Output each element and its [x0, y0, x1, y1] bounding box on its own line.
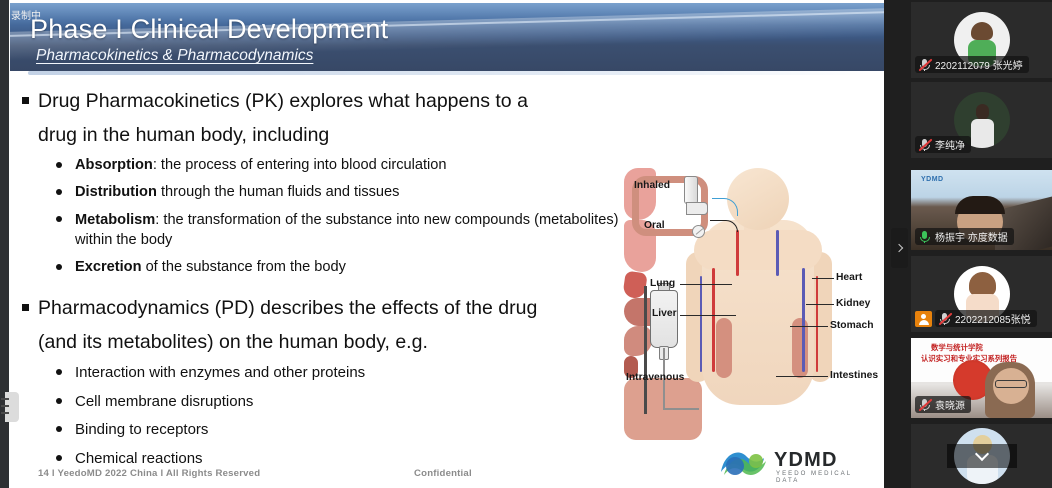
slide-body: Drug Pharmacokinetics (PK) explores what… — [0, 80, 640, 477]
leader-stomach — [790, 326, 828, 327]
left-panel-drag-handle[interactable] — [5, 392, 19, 422]
participant-name: 袁晓源 — [935, 397, 965, 412]
zoom-meeting-window: Phase I Clinical Development Pharmacokin… — [0, 0, 1052, 488]
ydmd-wordmark: YDMD — [774, 449, 838, 472]
dot-bullet-icon — [56, 264, 62, 270]
pill-icon — [692, 225, 705, 238]
shared-screen-slide[interactable]: Phase I Clinical Development Pharmacokin… — [0, 0, 884, 488]
participant-tile[interactable]: 2202212085张悦 — [911, 256, 1052, 332]
participant-tile[interactable]: 数学与统计学院 认识实习和专业实习系列报告 袁晓源 — [911, 338, 1052, 418]
footer-confidential: Confidential — [414, 468, 472, 479]
participant-tile[interactable]: 李纯净 — [911, 82, 1052, 158]
list-item: Excretion of the substance from the body — [0, 258, 640, 278]
host-badge-icon — [915, 311, 932, 327]
pk-heading-line1: Drug Pharmacokinetics (PK) explores what… — [0, 84, 640, 118]
grip-line — [1, 398, 9, 400]
figure-head — [727, 168, 789, 230]
iv-pole — [644, 286, 647, 414]
microphone-muted-icon — [918, 58, 931, 72]
iv-bag — [650, 290, 678, 348]
ydmd-tagline: YEEDO MEDICAL DATA — [776, 470, 878, 484]
banner-underline — [28, 71, 868, 75]
pd-heading-line2: (and its metabolites) on the human body,… — [0, 325, 640, 359]
vein-line — [700, 276, 702, 372]
microphone-muted-icon — [918, 398, 931, 412]
drug-administration-diagram: Inhaled Oral Lung Liver Intravenous Hear… — [624, 168, 882, 423]
iv-tube-horizontal — [663, 408, 699, 410]
strip-collapse-button[interactable] — [891, 228, 908, 268]
label-liver: Liver — [652, 308, 677, 319]
vein-line — [776, 230, 779, 276]
label-oral: Oral — [644, 220, 665, 231]
microphone-muted-icon — [918, 138, 931, 152]
label-intravenous: Intravenous — [626, 372, 684, 383]
dot-bullet-icon — [56, 455, 62, 461]
recording-label: 录制中 — [11, 7, 41, 22]
ydmd-mark-icon — [718, 446, 770, 480]
dot-bullet-icon — [56, 369, 62, 375]
ydmd-watermark-icon: YDMD — [921, 176, 944, 183]
leader-kidney — [806, 304, 834, 305]
dot-bullet-icon — [56, 189, 62, 195]
list-item: Absorption: the process of entering into… — [0, 156, 640, 176]
participant-name: 2202212085张悦 — [955, 311, 1031, 326]
square-bullet-icon — [22, 97, 29, 104]
microphone-active-icon — [918, 230, 931, 244]
list-item: Cell membrane disruptions — [0, 392, 640, 412]
participant-tile[interactable]: 2202112079 张光婷 — [911, 2, 1052, 78]
pd-bullet-list: Interaction with enzymes and other prote… — [0, 363, 640, 468]
section-pd: Pharmacodynamics (PD) describes the effe… — [0, 291, 640, 468]
chevron-down-icon — [974, 447, 988, 461]
dot-bullet-icon — [56, 426, 62, 432]
pk-heading-line2: drug in the human body, including — [0, 118, 640, 152]
dot-bullet-icon — [56, 162, 62, 168]
pd-heading-line1: Pharmacodynamics (PD) describes the effe… — [0, 291, 640, 325]
participant-name: 李纯净 — [935, 137, 965, 152]
list-item: Distribution through the human fluids an… — [0, 183, 640, 203]
microphone-muted-icon — [938, 312, 951, 326]
dot-bullet-icon — [56, 398, 62, 404]
leader-lung — [680, 284, 732, 285]
participant-name: 2202112079 张光婷 — [935, 57, 1023, 72]
participant-tile-next[interactable] — [911, 424, 1052, 488]
leader-intestines — [776, 376, 828, 377]
participant-namebar: 2202212085张悦 — [935, 310, 1037, 327]
leader-heart — [812, 278, 834, 279]
ydmd-logo: YDMD YEEDO MEDICAL DATA — [718, 444, 878, 484]
list-item: Binding to receptors — [0, 420, 640, 440]
label-lung: Lung — [650, 278, 675, 289]
label-heart: Heart — [836, 272, 862, 283]
inhaler-mouthpiece-icon — [686, 202, 708, 215]
list-item: Interaction with enzymes and other prote… — [0, 363, 640, 383]
participant-namebar: 杨振宇 亦度数据 — [915, 228, 1014, 245]
page-subtitle: Pharmacokinetics & Pharmacodynamics — [36, 47, 313, 65]
label-inhaled: Inhaled — [634, 180, 670, 191]
participant-namebar: 2202112079 张光婷 — [915, 56, 1029, 73]
participant-namebar: 袁晓源 — [915, 396, 971, 413]
participant-tile-active-speaker[interactable]: YDMD 杨振宇 亦度数据 — [911, 170, 1052, 250]
artery-line — [816, 276, 818, 372]
grip-line — [1, 405, 9, 407]
dot-bullet-icon — [56, 216, 62, 222]
participant-namebar: 李纯净 — [915, 136, 971, 153]
leader-liver — [680, 315, 736, 316]
list-item: Metabolism: the transformation of the su… — [0, 210, 640, 250]
scroll-down-button[interactable] — [947, 444, 1017, 468]
page-title: Phase I Clinical Development — [30, 14, 388, 45]
label-intestines: Intestines — [830, 370, 878, 381]
glasses-icon — [995, 380, 1027, 388]
organ-stomach — [624, 326, 652, 356]
square-bullet-icon — [22, 304, 29, 311]
vein-line — [802, 268, 805, 372]
organ-colon-left — [716, 318, 732, 378]
section-pk: Drug Pharmacokinetics (PK) explores what… — [0, 84, 640, 277]
hair — [955, 196, 1005, 214]
participant-name: 杨振宇 亦度数据 — [935, 229, 1008, 244]
label-stomach: Stomach — [830, 320, 874, 331]
label-kidney: Kidney — [836, 298, 870, 309]
artery-line — [736, 230, 739, 276]
banner-line-1: 数学与统计学院 — [931, 342, 983, 353]
figure-shoulders — [694, 230, 822, 270]
inhaler-icon — [684, 176, 698, 204]
participant-video-strip[interactable]: 2202112079 张光婷 李纯净 YDMD — [884, 0, 1052, 488]
pk-bullet-list: Absorption: the process of entering into… — [0, 156, 640, 277]
grip-line — [1, 412, 9, 414]
footer-copyright: 14 l YeedoMD 2022 China l All Rights Res… — [38, 468, 260, 479]
chevron-right-icon — [894, 244, 902, 252]
